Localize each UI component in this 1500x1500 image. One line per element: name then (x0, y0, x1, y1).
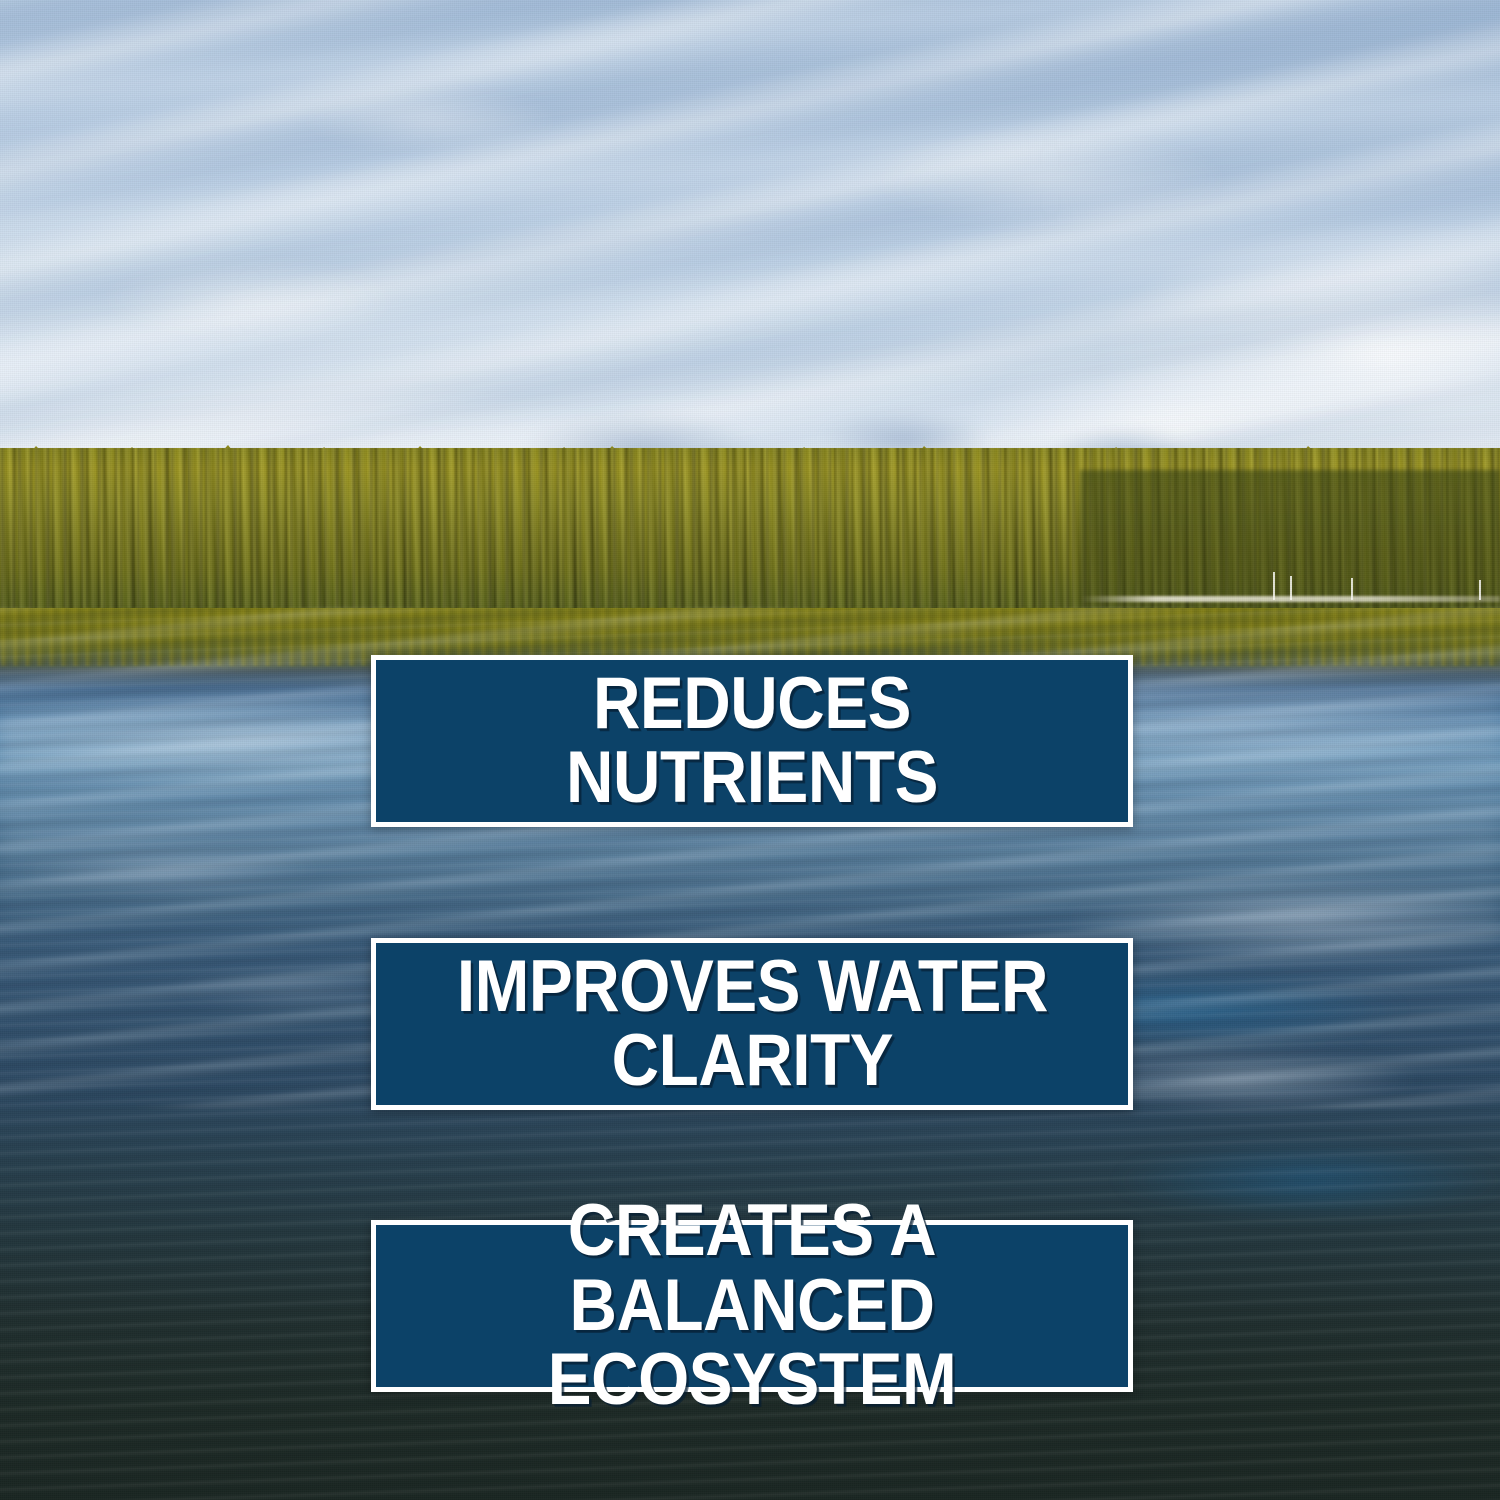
cloud-puffs-layer (0, 0, 1500, 500)
sailboat-mast-icon (1273, 572, 1275, 600)
sailboat-mast-icon (1351, 578, 1353, 600)
product-feature-image: Reduces Nutrients Improves Water Clarity… (0, 0, 1500, 1500)
feature-banner-creates-balanced-ecosystem: Creates A Balanced Ecosystem (371, 1220, 1133, 1392)
feature-banner-improves-water-clarity: Improves Water Clarity (371, 938, 1133, 1110)
sailboat-mast-icon (1479, 580, 1481, 600)
sailboat-mast-icon (1290, 576, 1292, 600)
feature-banner-label: Improves Water Clarity (456, 950, 1047, 1099)
feature-banner-reduces-nutrients: Reduces Nutrients (371, 655, 1133, 827)
sky-region (0, 0, 1500, 500)
feature-banner-label: Creates A Balanced Ecosystem (414, 1194, 1091, 1417)
feature-banner-label: Reduces Nutrients (414, 667, 1091, 816)
